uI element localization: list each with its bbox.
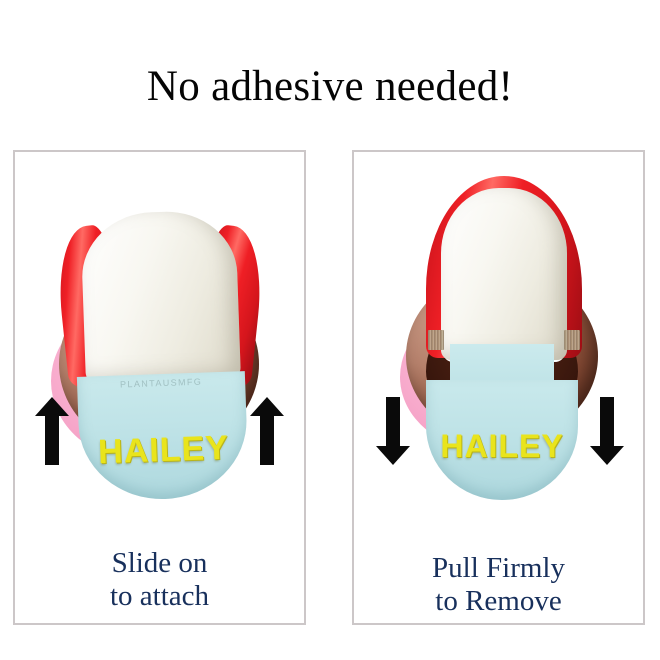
name-plate-remove: HAILEY [426, 380, 578, 500]
cream-shield-front [80, 209, 241, 382]
caption-line-2: to Remove [354, 585, 643, 618]
spring-hinge-right [564, 330, 580, 350]
arrow-up-icon-right [250, 397, 284, 465]
name-plate-label: HAILEY [79, 428, 248, 473]
plate-emboss-text: PLANTAUSMFG [77, 375, 245, 391]
arrow-up-icon-left [35, 397, 69, 465]
caption-attach: Slide on to attach [15, 547, 304, 613]
page-title: No adhesive needed! [0, 62, 660, 112]
cream-shield-front [441, 188, 567, 360]
caption-line-1: Pull Firmly [354, 552, 643, 585]
caption-line-2: to attach [15, 580, 304, 613]
panel-slide-on-to-attach: PLANTAUSMFG HAILEY Slide on to attach [13, 150, 306, 625]
arrow-down-icon-left [376, 397, 410, 465]
product-illustration-remove: HAILEY [354, 152, 643, 537]
product-illustration-attach: PLANTAUSMFG HAILEY [15, 152, 304, 537]
caption-remove: Pull Firmly to Remove [354, 552, 643, 618]
spring-hinge-left [428, 330, 444, 350]
panel-pull-to-remove: HAILEY Pull Firmly to Remove [352, 150, 645, 625]
arrow-down-icon-right [590, 397, 624, 465]
name-plate-attach: PLANTAUSMFG HAILEY [77, 371, 249, 502]
name-plate-label: HAILEY [426, 428, 578, 465]
caption-line-1: Slide on [15, 547, 304, 580]
